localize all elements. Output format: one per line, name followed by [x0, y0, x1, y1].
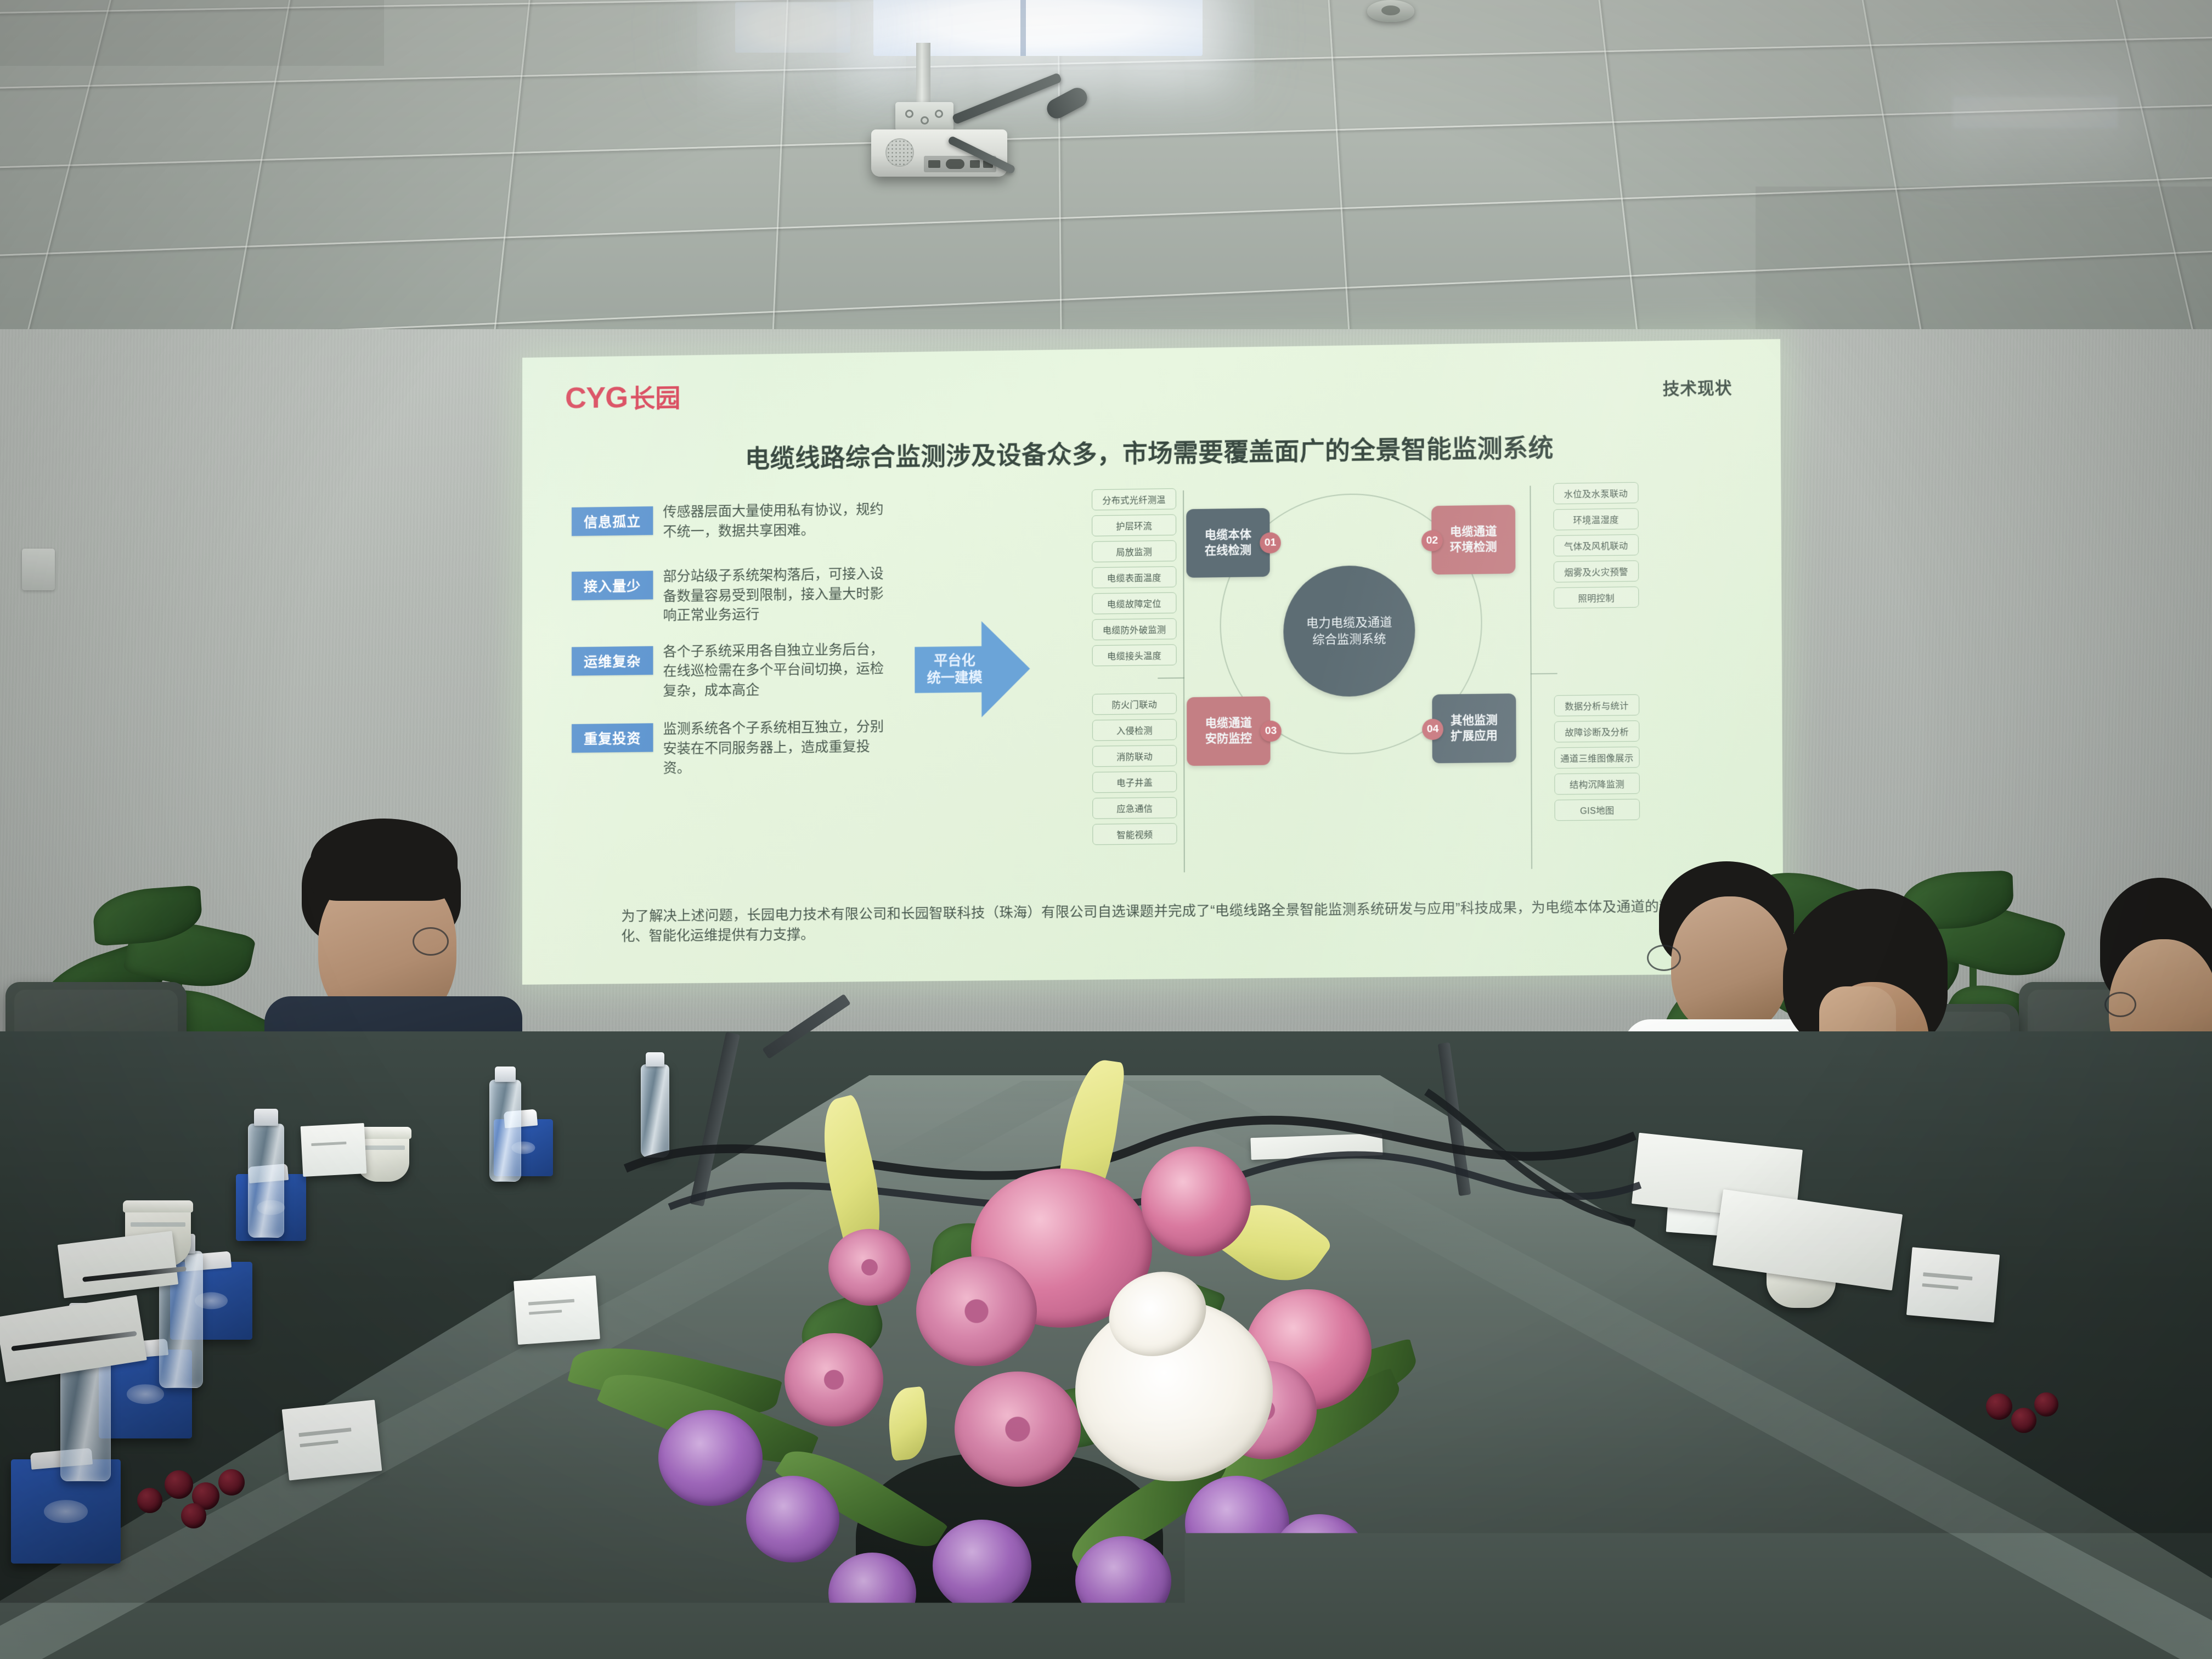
tag-item: 应急通信 — [1092, 797, 1177, 819]
tag-item: 局放监测 — [1092, 540, 1176, 562]
tag-item: 数据分析与统计 — [1554, 695, 1640, 716]
quadrant-line2: 扩展应用 — [1451, 728, 1498, 744]
name-card[interactable] — [513, 1276, 600, 1345]
speaker-glasses-icon — [413, 927, 449, 956]
tag-column-cable-body: 分布式光纤测温 护层环流 局放监测 电缆表面温度 电缆故障定位 电缆防外破监测 … — [1092, 488, 1177, 671]
wall-light-switch[interactable] — [22, 549, 55, 590]
tag-item: 电缆防外破监测 — [1092, 618, 1177, 640]
purple-orchid — [1075, 1536, 1171, 1625]
name-card[interactable] — [1906, 1247, 2000, 1322]
issue-row: 运维复杂 各个子系统采用各自独立业务后台，在线巡检需在多个平台间切换，运检复杂，… — [572, 640, 908, 702]
pink-rose — [916, 1256, 1037, 1366]
grape-cluster — [137, 1488, 162, 1513]
bottle-cap — [254, 1109, 278, 1126]
issue-tag: 运维复杂 — [572, 646, 653, 675]
ceiling-light-panel-far — [1953, 97, 2118, 128]
ceiling — [0, 0, 2212, 340]
purple-orchid — [1273, 1514, 1366, 1601]
issue-row: 信息孤立 传感器层面大量使用私有协议，规约不统一，数据共享困难。 — [572, 500, 908, 543]
attendee-yellow-glasses-icon — [2104, 992, 2136, 1017]
tag-item: 防火门联动 — [1092, 693, 1177, 715]
speaker-hair-top — [311, 819, 458, 901]
water-bottle[interactable] — [248, 1124, 284, 1238]
tag-item: 分布式光纤测温 — [1092, 488, 1176, 510]
cyg-logo: CYG 长园 — [565, 382, 680, 413]
ceiling-projector — [871, 43, 1014, 185]
grape-cluster — [218, 1469, 245, 1496]
diagram-quadrant-03: 电缆通道 安防监控 — [1187, 696, 1271, 766]
quadrant-line1: 电缆本体 — [1205, 527, 1251, 543]
logo-latin-text: CYG — [565, 382, 628, 413]
diagram-quadrant-01: 电缆本体 在线检测 — [1186, 508, 1269, 578]
tag-item: 气体及风机联动 — [1554, 534, 1639, 556]
tag-column-security: 防火门联动 入侵检测 消防联动 电子井盖 应急通信 智能视频 — [1092, 693, 1177, 850]
issue-list: 信息孤立 传感器层面大量使用私有协议，规约不统一，数据共享困难。 接入量少 部分… — [572, 500, 909, 800]
projected-slide: CYG 长园 技术现状 电缆线路综合监测涉及设备众多，市场需要覆盖面广的全景智能… — [522, 339, 1784, 985]
tag-item: 入侵检测 — [1092, 719, 1177, 741]
diagram-quadrant-02: 电缆通道 环境检测 — [1431, 505, 1515, 574]
monitoring-system-diagram: 电力电缆及通道 综合监测系统 电缆本体 在线检测 01 电缆通道 环境检测 02… — [1183, 479, 1519, 794]
tag-item: GIS地图 — [1554, 799, 1640, 821]
purple-orchid — [746, 1476, 839, 1562]
connector-line-right-mid — [1531, 673, 1558, 675]
logo-chinese-text: 长园 — [630, 385, 680, 411]
purple-orchid — [658, 1410, 763, 1506]
name-card[interactable] — [301, 1123, 367, 1177]
quadrant-line2: 环境检测 — [1450, 539, 1497, 555]
quadrant-line1: 其他监测 — [1451, 713, 1498, 729]
purple-orchid — [933, 1520, 1031, 1612]
tag-item: 护层环流 — [1092, 514, 1176, 536]
issue-text: 传感器层面大量使用私有协议，规约不统一，数据共享困难。 — [663, 500, 894, 542]
tag-item: 电缆表面温度 — [1092, 566, 1176, 588]
arrow-label-line2: 统一建模 — [919, 669, 990, 686]
water-bottle[interactable] — [489, 1080, 521, 1182]
bottle-cap — [495, 1066, 516, 1082]
grape-cluster — [2034, 1392, 2058, 1417]
slide-section-label: 技术现状 — [1663, 374, 1733, 399]
tag-item: 通道三维图像展示 — [1554, 747, 1640, 769]
grape-cluster — [1986, 1393, 2012, 1420]
tag-item: 水位及水泵联动 — [1553, 482, 1638, 505]
grape-cluster — [2011, 1408, 2036, 1433]
quadrant-number-03: 03 — [1260, 720, 1282, 742]
hub-line2: 综合监测系统 — [1312, 631, 1386, 648]
issue-row: 接入量少 部分站级子系统架构落后，可接入设备数量容易受到限制，接入量大时影响正常… — [572, 564, 908, 627]
arrow-label-line1: 平台化 — [919, 652, 990, 669]
tag-item: 照明控制 — [1554, 586, 1639, 608]
pink-rose — [828, 1229, 911, 1306]
connector-line-right-vertical — [1530, 486, 1532, 869]
ceiling-light-panel-left — [735, 2, 850, 53]
quadrant-line2: 在线检测 — [1205, 543, 1251, 558]
tag-item: 烟雾及火灾预警 — [1554, 560, 1639, 582]
attendee-white-glasses-icon — [1647, 945, 1681, 971]
tag-item: 结构沉降监测 — [1554, 772, 1640, 794]
slide-footnote: 为了解决上述问题，长园电力技术有限公司和长园智联科技（珠海）有限公司自选课题并完… — [621, 896, 1688, 946]
tea-cup-lid — [123, 1200, 193, 1212]
projector-pole — [916, 43, 930, 108]
purple-orchid — [828, 1553, 916, 1634]
tag-item: 故障诊断及分析 — [1554, 720, 1640, 742]
pink-rose — [785, 1333, 883, 1426]
floral-centerpiece — [592, 1059, 1448, 1659]
diagram-quadrant-04: 其他监测 扩展应用 — [1432, 693, 1516, 763]
connector-line-left-mid — [1158, 678, 1184, 679]
tag-item: 消防联动 — [1092, 745, 1177, 767]
conference-room-scene: CYG 长园 技术现状 电缆线路综合监测涉及设备众多，市场需要覆盖面广的全景智能… — [0, 0, 2212, 1659]
smoke-detector-icon — [1367, 0, 1414, 22]
tag-item: 电缆接头温度 — [1092, 644, 1177, 666]
lily-bud-yellow — [885, 1386, 930, 1462]
tag-item: 电缆故障定位 — [1092, 592, 1176, 614]
issue-text: 各个子系统采用各自独立业务后台，在线巡检需在多个平台间切换，运检复杂，成本高企 — [663, 640, 895, 701]
issue-tag: 重复投资 — [572, 723, 653, 753]
slide-title: 电缆线路综合监测涉及设备众多，市场需要覆盖面广的全景智能监测系统 — [522, 425, 1781, 478]
tag-item: 智能视频 — [1092, 823, 1177, 845]
issue-text: 部分站级子系统架构落后，可接入设备数量容易受到限制，接入量大时影响正常业务运行 — [663, 565, 895, 626]
quadrant-line1: 电缆通道 — [1205, 715, 1252, 731]
arrow-label: 平台化 统一建模 — [919, 652, 990, 686]
quadrant-number-04: 04 — [1422, 719, 1443, 740]
tag-item: 电子井盖 — [1092, 771, 1177, 793]
projector-vent-icon — [885, 138, 914, 167]
name-card[interactable] — [282, 1400, 382, 1480]
issue-row: 重复投资 监测系统各个子系统相互独立，分别安装在不同服务器上，造成重复投资。 — [572, 717, 908, 780]
grape-cluster — [181, 1503, 206, 1528]
platform-arrow: 平台化 统一建模 — [915, 620, 1030, 718]
pink-rose — [955, 1372, 1081, 1487]
tag-item: 环境温湿度 — [1553, 508, 1638, 530]
quadrant-line1: 电缆通道 — [1450, 524, 1497, 540]
tag-column-extended: 数据分析与统计 故障诊断及分析 通道三维图像展示 结构沉降监测 GIS地图 — [1554, 695, 1640, 826]
issue-tag: 接入量少 — [572, 571, 653, 600]
hub-line1: 电力电缆及通道 — [1306, 614, 1392, 631]
pink-lily — [1141, 1147, 1251, 1256]
issue-tag: 信息孤立 — [572, 506, 653, 536]
quadrant-line2: 安防监控 — [1205, 731, 1252, 747]
grape-cluster — [165, 1470, 193, 1499]
issue-text: 监测系统各个子系统相互独立，分别安装在不同服务器上，造成重复投资。 — [663, 717, 895, 778]
tag-column-environment: 水位及水泵联动 环境温湿度 气体及风机联动 烟雾及火灾预警 照明控制 — [1553, 482, 1639, 614]
